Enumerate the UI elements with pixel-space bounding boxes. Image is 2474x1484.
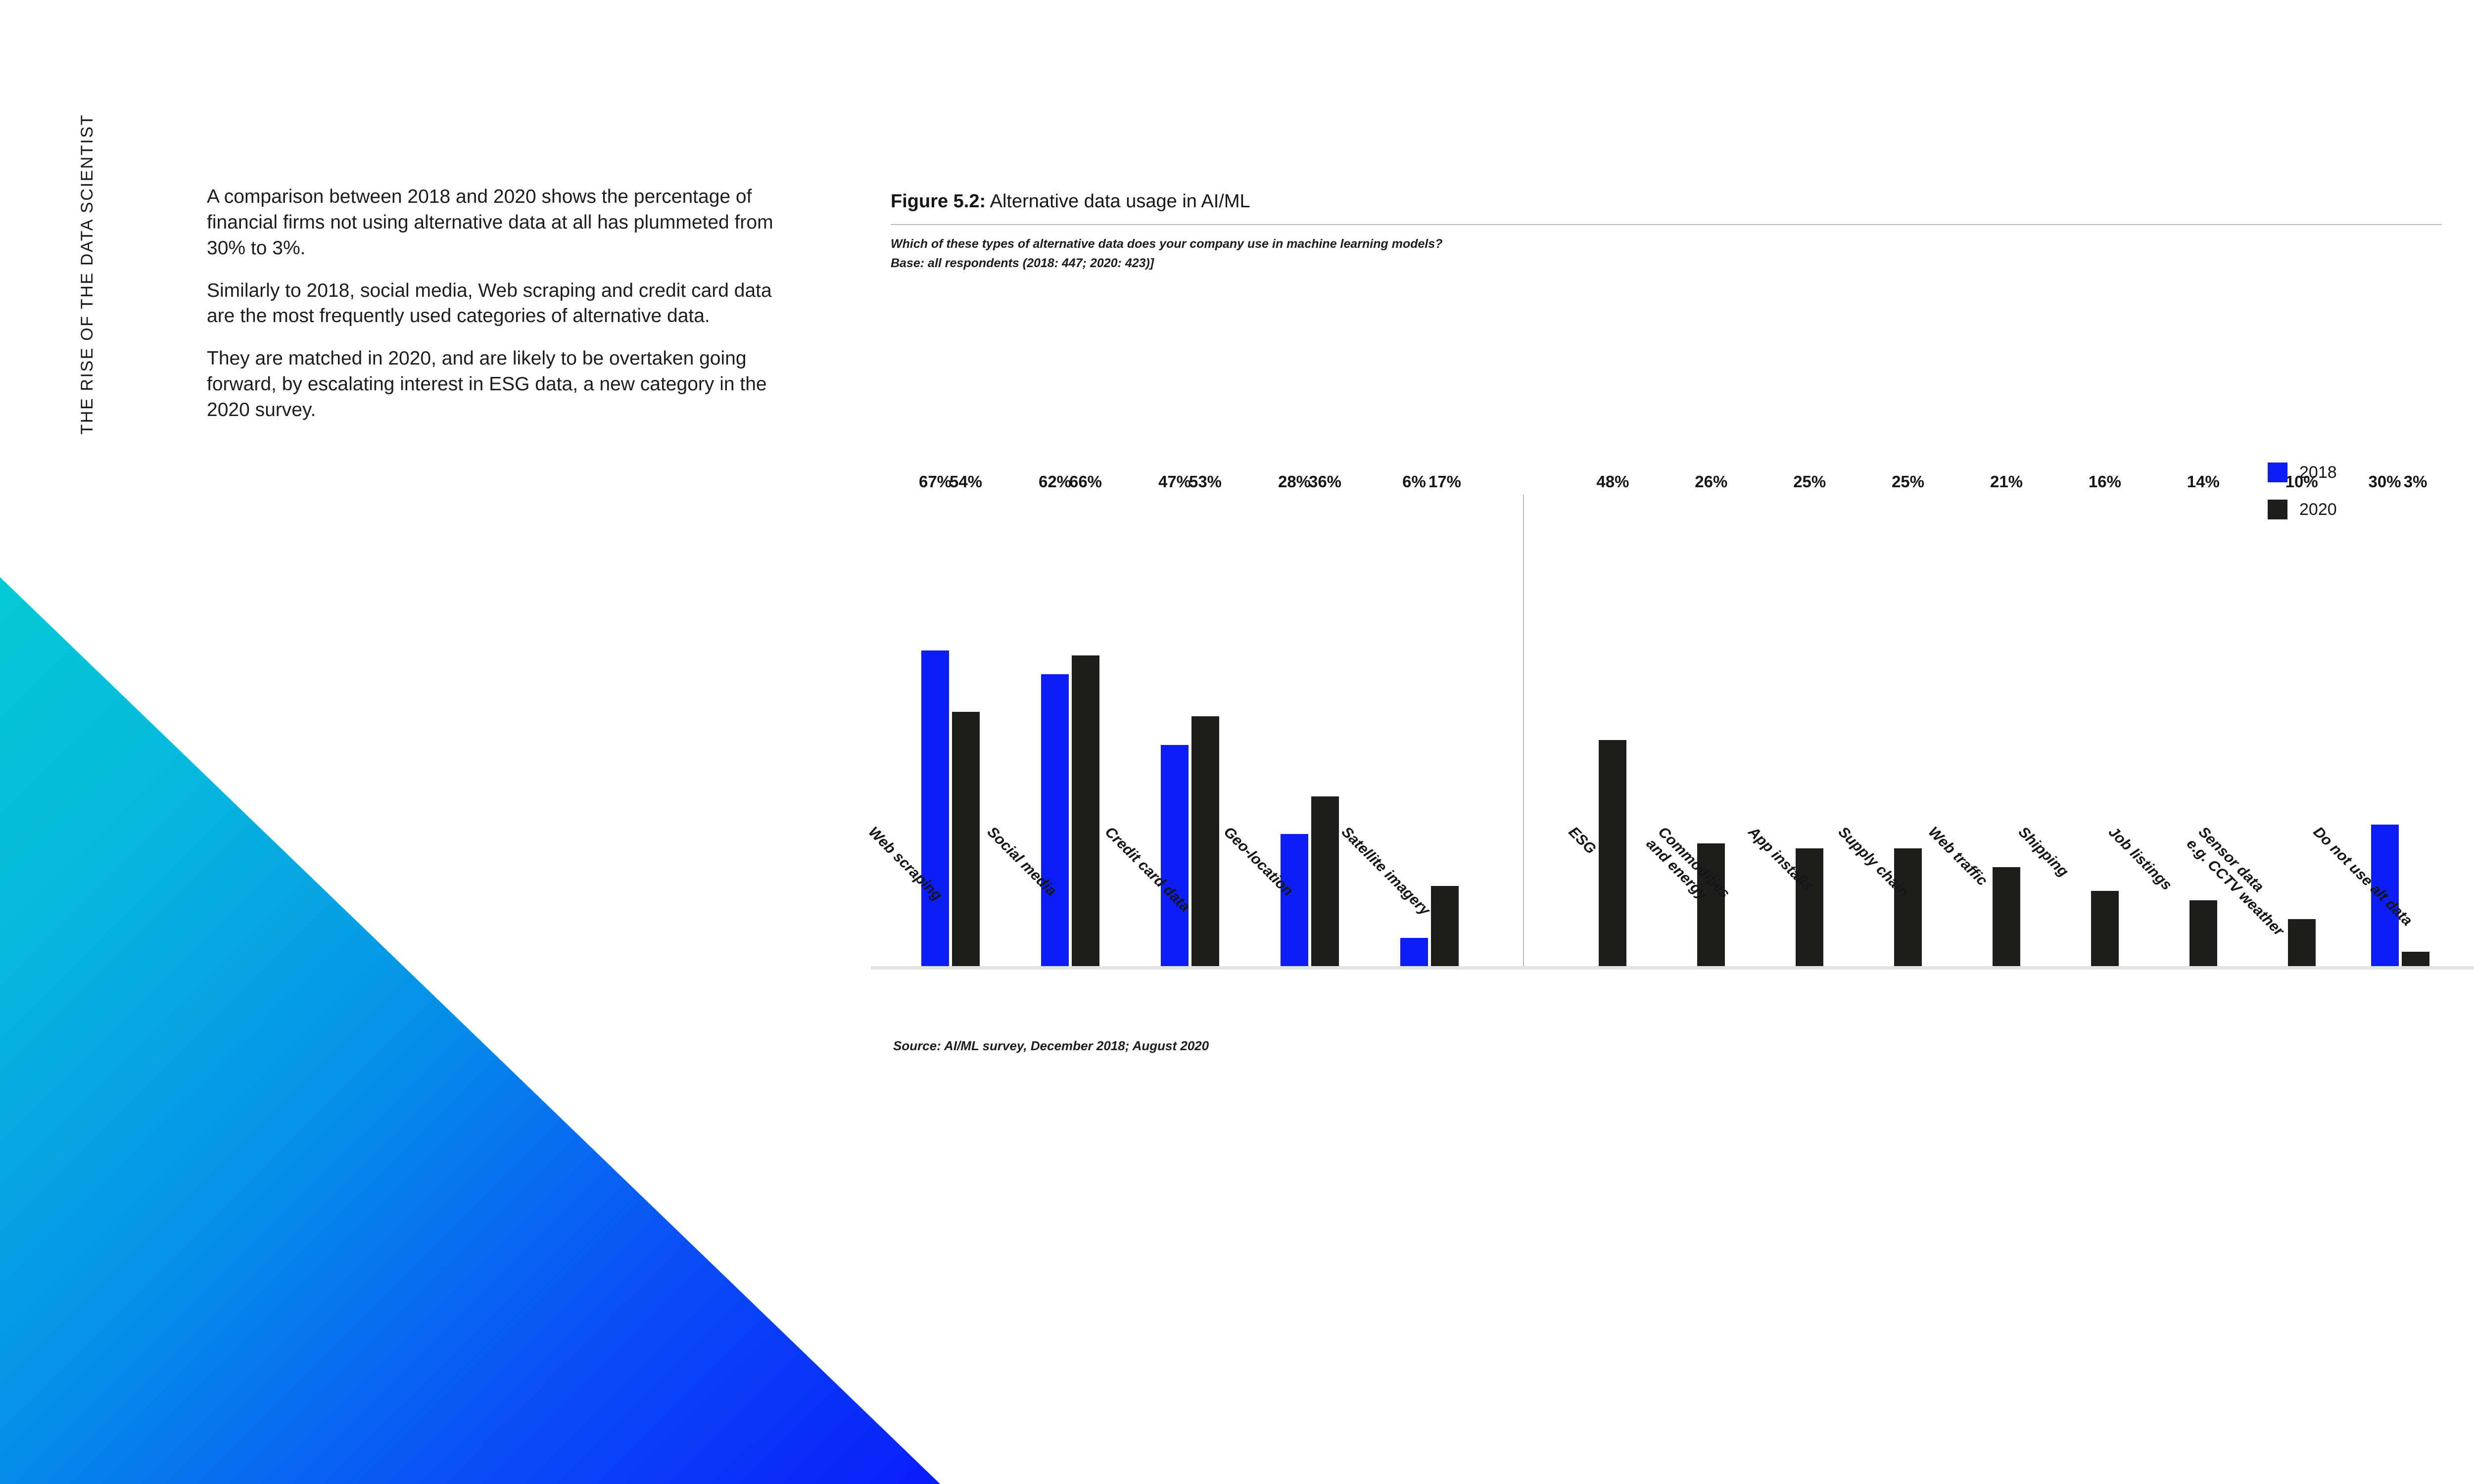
tick-label-esg: ESG <box>1565 824 1599 858</box>
x-axis-tick-labels: Web scraping Social media Credit card da… <box>871 824 2474 1031</box>
paragraph-3: They are matched in 2020, and are likely… <box>207 346 781 423</box>
figure-title: Figure 5.2: Alternative data usage in AI… <box>891 190 2474 213</box>
tick-label-social-media: Social media <box>984 824 1060 900</box>
legend-item-2020[interactable]: 2020 <box>2268 500 2337 519</box>
bar-value-label: 36% <box>1309 472 1341 491</box>
bar-value-label: 66% <box>1069 472 1102 491</box>
figure-question: Which of these types of alternative data… <box>891 236 2474 252</box>
legend-swatch-icon-2018 <box>2268 463 2287 482</box>
bar-value-label: 28% <box>1278 472 1311 491</box>
bar-value-label: 48% <box>1596 472 1629 491</box>
bar-value-label: 54% <box>950 472 982 491</box>
figure-base: Base: all respondents (2018: 447; 2020: … <box>891 255 2474 272</box>
chart-legend: 2018 2020 <box>2268 463 2337 519</box>
body-copy: A comparison between 2018 and 2020 shows… <box>207 184 781 423</box>
bar-value-label: 67% <box>919 472 952 491</box>
figure-header: Figure 5.2: Alternative data usage in AI… <box>891 190 2474 272</box>
tick-label-job-listings: Job listings <box>2105 824 2175 894</box>
paragraph-2: Similarly to 2018, social media, Web scr… <box>207 278 781 329</box>
legend-swatch-icon-2020 <box>2268 500 2287 519</box>
bar-value-label: 3% <box>2404 472 2427 491</box>
decorative-gradient-triangle <box>0 524 940 1484</box>
figure-source: Source: AI/ML survey, December 2018; Aug… <box>893 1038 1209 1054</box>
bar-value-label: 14% <box>2187 472 2220 491</box>
bar-value-label: 47% <box>1158 472 1191 491</box>
bar-value-label: 17% <box>1428 472 1461 491</box>
figure-title-text: Alternative data usage in AI/ML <box>986 191 1250 212</box>
bar-value-label: 16% <box>2089 472 2121 491</box>
tick-label-geo-location: Geo-location <box>1220 824 1296 900</box>
figure-divider-rule <box>891 224 2442 225</box>
tick-label-sensor-data: Sensor datae.g. CCTV weather <box>2183 824 2299 940</box>
bar-value-label: 25% <box>1793 472 1826 491</box>
tick-label-shipping: Shipping <box>2015 824 2072 881</box>
bar-value-label: 26% <box>1695 472 1727 491</box>
tick-label-credit-card-data: Credit card data <box>1101 824 1193 916</box>
bar-value-label: 30% <box>2369 472 2401 491</box>
legend-label-2020: 2020 <box>2299 500 2337 519</box>
bar-value-label: 62% <box>1039 472 1071 491</box>
legend-label-2018: 2018 <box>2299 463 2337 482</box>
tick-label-app-installs: App installs <box>1745 824 1816 895</box>
figure-number: Figure 5.2: <box>891 191 986 212</box>
tick-label-do-not-use-alt-data: Do not use alt data <box>2310 824 2416 929</box>
bar-value-label: 25% <box>1892 472 1924 491</box>
bar-value-label: 53% <box>1189 472 1222 491</box>
paragraph-1: A comparison between 2018 and 2020 shows… <box>207 184 781 261</box>
bar-value-label: 6% <box>1402 472 1426 491</box>
tick-label-web-traffic: Web traffic <box>1925 824 1991 889</box>
bar-value-label: 21% <box>1990 472 2023 491</box>
tick-label-web-scraping: Web scraping <box>865 824 946 904</box>
running-head: THE RISE OF THE DATA SCIENTIST <box>78 114 97 435</box>
tick-label-commodities-and-energy: Commoditiesand energy <box>1643 824 1733 914</box>
legend-item-2018[interactable]: 2018 <box>2268 463 2337 482</box>
tick-label-satellite-imagery: Satellite imagery <box>1338 824 1433 919</box>
tick-label-supply-chain: Supply chain <box>1835 824 1912 901</box>
